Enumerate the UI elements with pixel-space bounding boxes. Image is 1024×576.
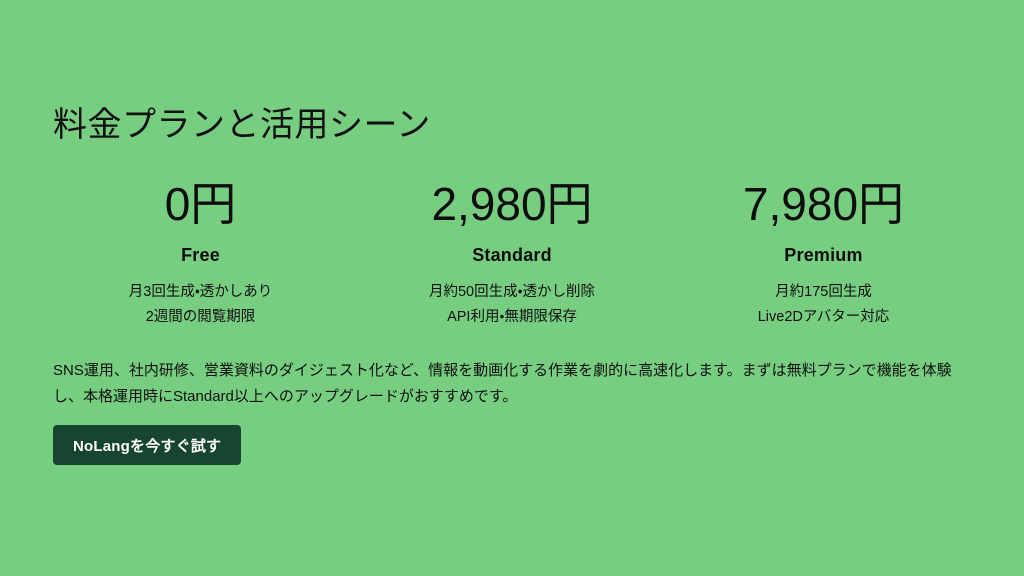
plan-feature-list: 月約50回生成・透かし削除 API利用・無期限保存	[357, 280, 668, 330]
plan-feature: Live2Dアバター対応	[668, 305, 979, 330]
plan-feature: 月約175回生成	[668, 280, 979, 305]
description-text: SNS運用、社内研修、営業資料のダイジェスト化など、情報を動画化する作業を劇的に…	[53, 358, 973, 410]
plan-feature: 月3回生成・透かしあり	[45, 280, 356, 305]
plan-price: 0円	[45, 178, 356, 231]
plan-card-free: 0円 Free 月3回生成・透かしあり 2週間の閲覧期限	[45, 178, 356, 330]
plan-feature-list: 月3回生成・透かしあり 2週間の閲覧期限	[45, 280, 356, 330]
plan-name: Standard	[357, 245, 668, 267]
plan-name: Premium	[668, 245, 979, 267]
plan-feature: 月約50回生成・透かし削除	[357, 280, 668, 305]
plan-price: 2,980円	[357, 178, 668, 231]
pricing-plans: 0円 Free 月3回生成・透かしあり 2週間の閲覧期限 2,980円 Stan…	[45, 178, 979, 330]
plan-card-premium: 7,980円 Premium 月約175回生成 Live2Dアバター対応	[668, 178, 979, 330]
pricing-slide: 料金プランと活用シーン 0円 Free 月3回生成・透かしあり 2週間の閲覧期限…	[0, 0, 1024, 576]
plan-name: Free	[45, 245, 356, 267]
plan-feature: API利用・無期限保存	[357, 305, 668, 330]
plan-feature-list: 月約175回生成 Live2Dアバター対応	[668, 280, 979, 330]
try-nolang-button[interactable]: NoLangを今すぐ試す	[53, 425, 241, 465]
plan-feature: 2週間の閲覧期限	[45, 305, 356, 330]
plan-price: 7,980円	[668, 178, 979, 231]
plan-card-standard: 2,980円 Standard 月約50回生成・透かし削除 API利用・無期限保…	[357, 178, 668, 330]
page-title: 料金プランと活用シーン	[53, 104, 431, 147]
